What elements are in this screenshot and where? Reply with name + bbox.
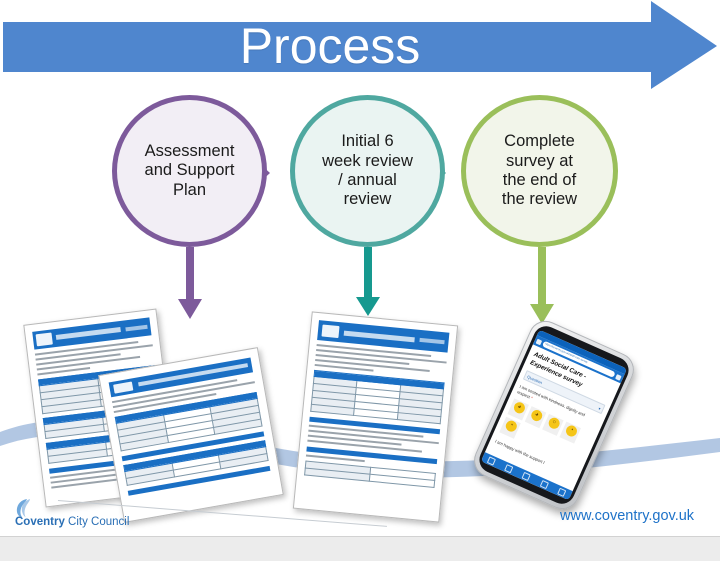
dropdown-value: Question xyxy=(526,374,543,385)
bookmarks-icon[interactable] xyxy=(540,479,549,488)
slide-canvas: Process Assessment and Support Plan Init… xyxy=(0,0,720,536)
title-banner: Process xyxy=(0,0,720,92)
document-table xyxy=(310,370,444,424)
survey-rating-options[interactable]: ◕ ◕ ○ ◔ ◔ xyxy=(499,398,593,467)
document-header-bar xyxy=(32,317,152,350)
coventry-logo-icon xyxy=(36,333,53,346)
tabs-icon[interactable] xyxy=(557,487,566,496)
chevron-down-icon: ▾ xyxy=(598,406,602,411)
step-circle-assessment[interactable]: Assessment and Support Plan xyxy=(112,95,267,247)
rating-option[interactable]: ◔ xyxy=(499,417,521,439)
share-icon[interactable] xyxy=(522,472,531,481)
forward-icon[interactable] xyxy=(505,464,514,473)
face-happy-icon[interactable]: ◕ xyxy=(529,408,544,423)
down-arrow-purple-icon xyxy=(174,247,206,322)
coventry-swirl-icon xyxy=(14,498,38,518)
logo-wordmark: Coventry City Council xyxy=(15,516,129,528)
document-title-placeholder xyxy=(344,330,415,342)
step-circle-review[interactable]: Initial 6 week review / annual review xyxy=(290,95,445,247)
document-subtitle-placeholder xyxy=(420,338,445,344)
website-url: www.coventry.gov.uk xyxy=(560,508,694,524)
document-title-placeholder xyxy=(138,364,248,387)
support-plan-document-thumbnail[interactable] xyxy=(98,347,284,523)
banner-arrow-shape xyxy=(0,0,720,92)
rating-option[interactable]: ◔ xyxy=(559,422,581,444)
coventry-city-council-logo: Coventry City Council xyxy=(14,498,164,532)
step-label-assessment: Assessment and Support Plan xyxy=(133,142,247,200)
coventry-logo-icon xyxy=(113,381,133,393)
phone-bezel: https://coventry.gov.uk/adult-care-surve… xyxy=(475,322,632,508)
face-very-happy-icon[interactable]: ◕ xyxy=(512,400,527,415)
refresh-icon[interactable] xyxy=(615,374,622,381)
face-sad-icon[interactable]: ◔ xyxy=(564,424,579,439)
document-table xyxy=(304,461,435,488)
window-bottom-bar xyxy=(0,536,720,561)
phone-body: https://coventry.gov.uk/adult-care-surve… xyxy=(469,315,640,514)
logo-light: City Council xyxy=(65,516,130,528)
step-label-survey: Complete survey at the end of the review xyxy=(490,132,589,210)
step-circle-survey[interactable]: Complete survey at the end of the review xyxy=(461,95,618,247)
document-title-placeholder xyxy=(56,328,121,341)
phone-mockup[interactable]: https://coventry.gov.uk/adult-care-surve… xyxy=(486,325,636,500)
phone-screen[interactable]: https://coventry.gov.uk/adult-care-surve… xyxy=(481,330,627,501)
coventry-logo-icon xyxy=(322,325,340,339)
required-marker: * xyxy=(530,395,534,400)
back-icon[interactable] xyxy=(487,456,496,465)
review-record-document-thumbnail[interactable] xyxy=(293,311,458,522)
step-label-review: Initial 6 week review / annual review xyxy=(310,132,425,210)
down-arrow-green-icon xyxy=(526,247,558,327)
logo-bold: Coventry xyxy=(15,516,65,528)
down-arrow-teal-icon xyxy=(352,247,384,319)
face-very-sad-icon[interactable]: ◔ xyxy=(504,419,519,434)
face-neutral-icon[interactable]: ○ xyxy=(546,416,561,431)
document-subtitle-placeholder xyxy=(125,325,148,331)
browser-menu-icon[interactable] xyxy=(536,338,543,345)
